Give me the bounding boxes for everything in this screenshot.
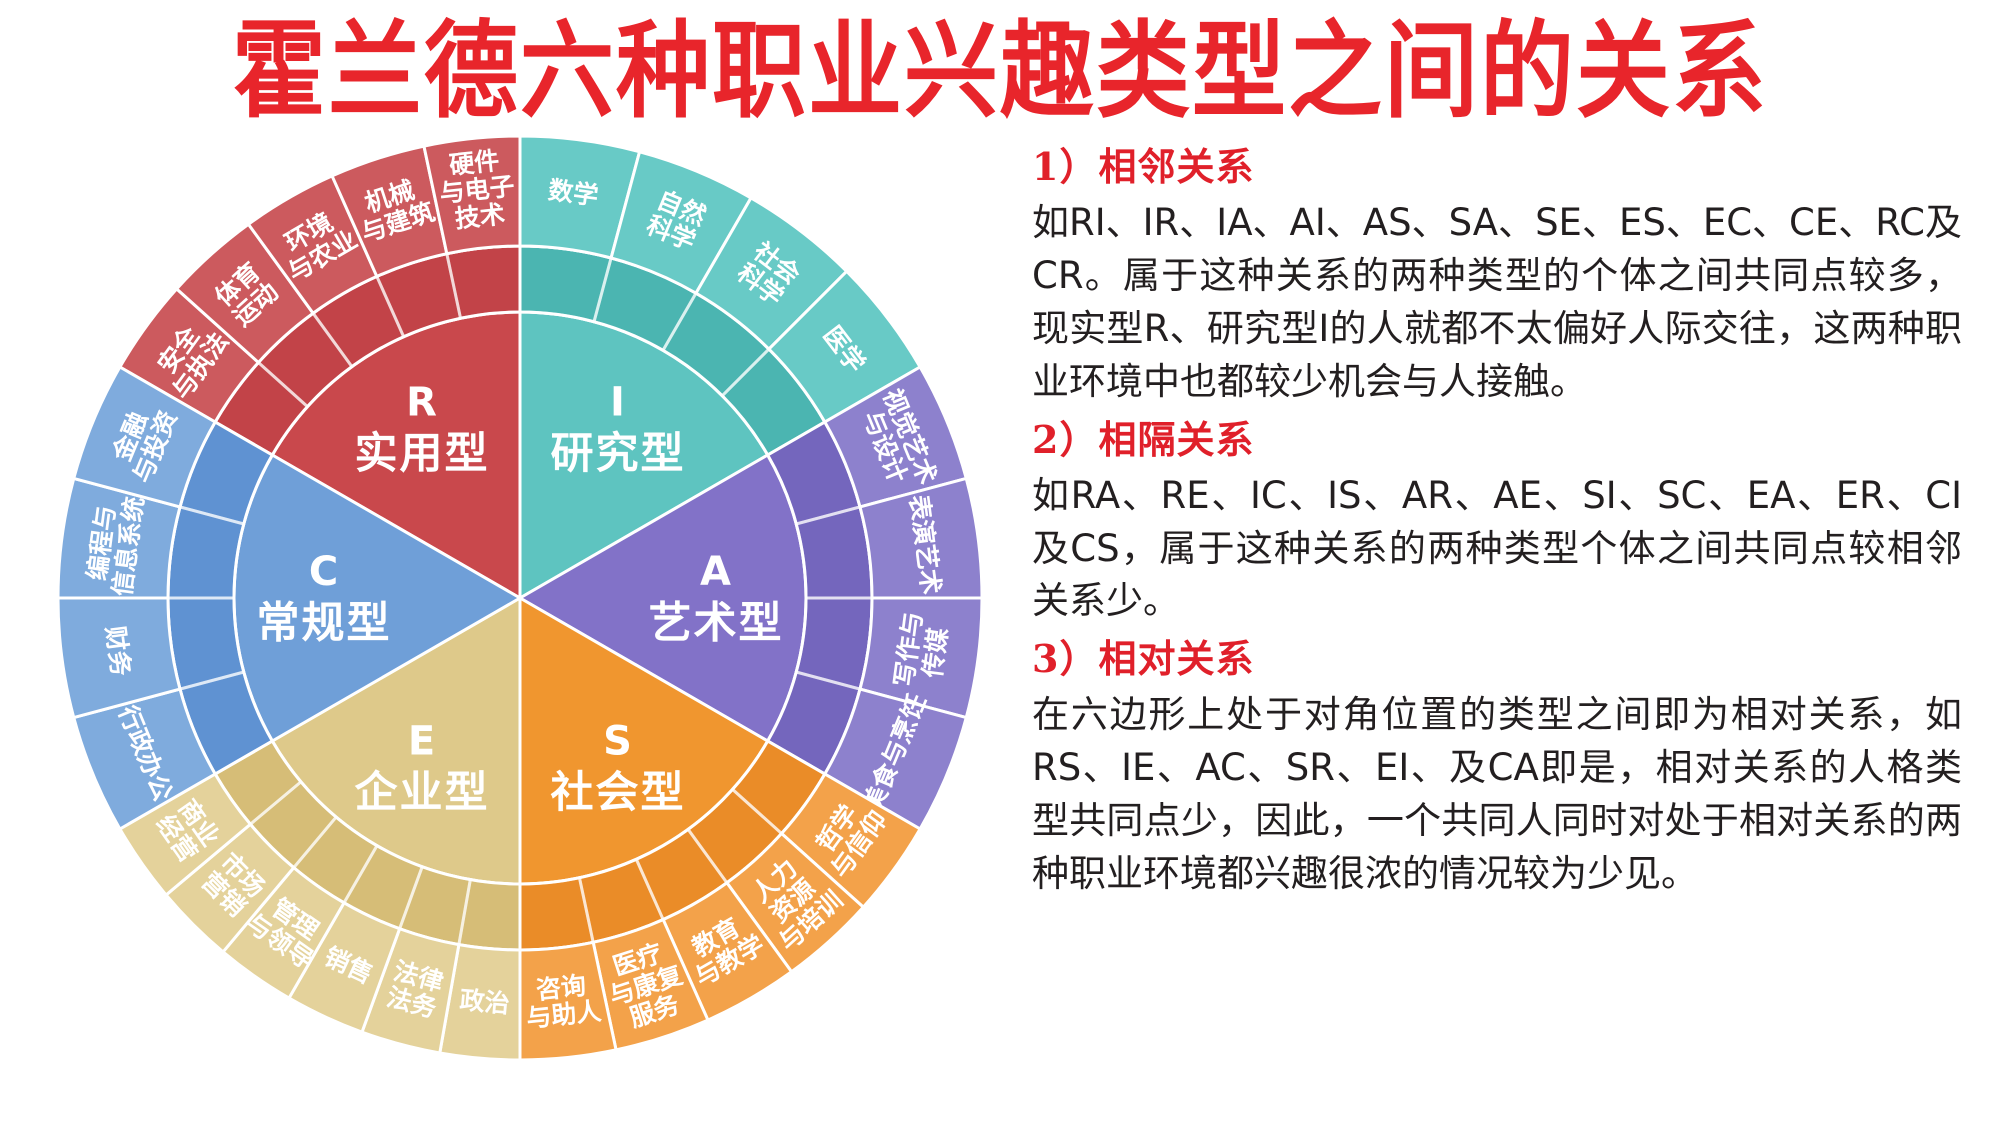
page-title: 霍兰德六种职业兴趣类型之间的关系 (232, 20, 1768, 125)
sector-code-E: E (408, 719, 436, 765)
section-heading: 3）相对关系 (1032, 628, 1962, 683)
explanation-panel: 1）相邻关系 如RI、IR、IA、AI、AS、SA、SE、ES、EC、CE、RC… (1032, 136, 1962, 901)
sector-name-R: 实用型 (355, 429, 490, 479)
sector-code-A: A (700, 549, 732, 595)
sector-name-A: 艺术型 (649, 599, 784, 649)
sector-code-R: R (406, 379, 438, 425)
wheel-svg: 安全与执法体育运动环境与农业机械与建筑硬件与电子技术R实用型数学自然科学社会科学… (40, 118, 1000, 1078)
sector-code-C: C (309, 549, 339, 595)
section-body: 如RI、IR、IA、AI、AS、SA、SE、ES、EC、CE、RC及CR。属于这… (1032, 197, 1962, 409)
holland-wheel: 安全与执法体育运动环境与农业机械与建筑硬件与电子技术R实用型数学自然科学社会科学… (40, 118, 1000, 1078)
section-body: 如RA、RE、IC、IS、AR、AE、SI、SC、EA、ER、CI及CS，属于这… (1032, 470, 1962, 629)
section-heading: 1）相邻关系 (1032, 136, 1962, 191)
relation-section-separated: 2）相隔关系 如RA、RE、IC、IS、AR、AE、SI、SC、EA、ER、CI… (1032, 409, 1962, 629)
relation-section-opposite: 3）相对关系 在六边形上处于对角位置的类型之间即为相对关系，如RS、IE、AC、… (1032, 628, 1962, 901)
sector-name-E: 企业型 (355, 768, 490, 818)
sector-code-S: S (603, 719, 633, 765)
sector-name-I: 研究型 (551, 429, 686, 479)
sector-name-C: 常规型 (257, 599, 392, 649)
content-area: 安全与执法体育运动环境与农业机械与建筑硬件与电子技术R实用型数学自然科学社会科学… (0, 118, 2000, 1125)
sector-code-I: I (610, 379, 626, 425)
section-heading: 2）相隔关系 (1032, 409, 1962, 464)
sector-name-S: 社会型 (551, 768, 686, 818)
outer-segment-label: 政治 (459, 985, 511, 1018)
relation-section-adjacent: 1）相邻关系 如RI、IR、IA、AI、AS、SA、SE、ES、EC、CE、RC… (1032, 136, 1962, 409)
title-bar: 霍兰德六种职业兴趣类型之间的关系 (0, 0, 2000, 118)
section-body: 在六边形上处于对角位置的类型之间即为相对关系，如RS、IE、AC、SR、EI、及… (1032, 689, 1962, 901)
